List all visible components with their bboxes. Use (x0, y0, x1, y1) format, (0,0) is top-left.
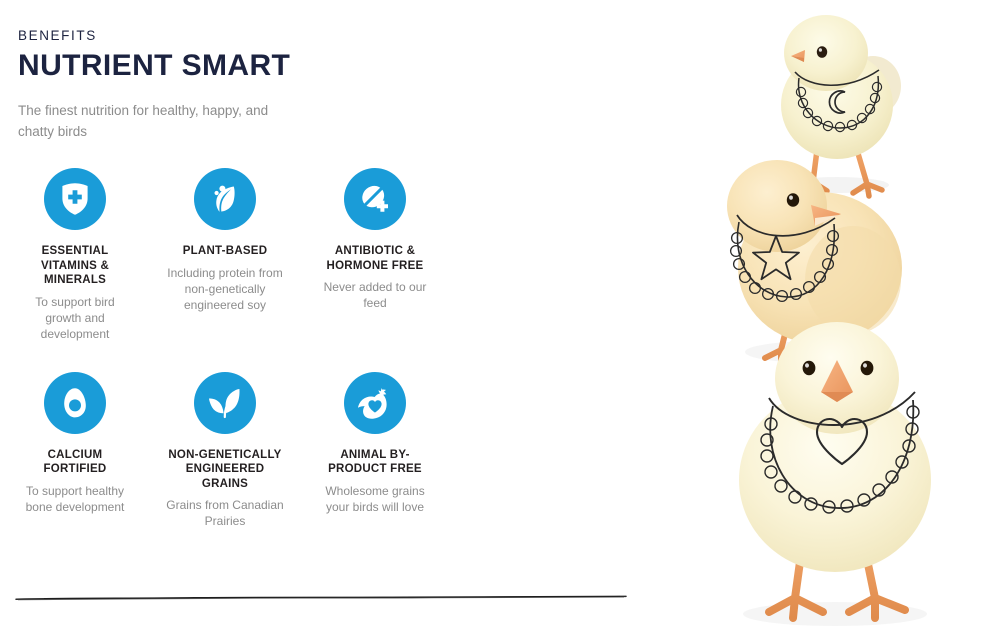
benefit-description: To support healthy bone development (16, 483, 134, 515)
benefit-title: ANIMAL BY-PRODUCT FREE (315, 448, 435, 477)
chicks-photo (677, 0, 987, 640)
benefit-title: CALCIUM FORTIFIED (15, 448, 135, 477)
benefit-item-plant-based: PLANT-BASED Including protein from non-g… (150, 168, 300, 313)
leaf-droplets-icon (194, 168, 256, 230)
benefit-item-antibiotic-hormone-free: ANTIBIOTIC & HORMONE FREE Never added to… (300, 168, 450, 311)
benefit-item-essential-vitamins: ESSENTIAL VITAMINS & MINERALS To support… (0, 168, 150, 342)
section-divider (14, 586, 628, 608)
benefit-description: To support bird growth and development (16, 294, 134, 342)
hen-heart-icon (344, 372, 406, 434)
egg-yolk-icon (44, 372, 106, 434)
benefit-title: NON-GENETICALLY ENGINEERED GRAINS (165, 448, 285, 492)
shield-cross-icon (44, 168, 106, 230)
sprout-leaves-icon (194, 372, 256, 434)
chick-bottom (739, 322, 931, 626)
benefit-description: Wholesome grains your birds will love (316, 483, 434, 515)
benefit-title: ESSENTIAL VITAMINS & MINERALS (15, 244, 135, 288)
benefit-item-calcium-fortified: CALCIUM FORTIFIED To support healthy bon… (0, 372, 150, 515)
benefit-title: ANTIBIOTIC & HORMONE FREE (315, 244, 435, 273)
page-subtitle: The finest nutrition for healthy, happy,… (18, 100, 280, 142)
benefit-title: PLANT-BASED (183, 244, 268, 259)
benefit-description: Including protein from non-genetically e… (166, 265, 284, 313)
eyebrow-label: BENEFITS (18, 28, 438, 44)
benefits-row-1: ESSENTIAL VITAMINS & MINERALS To support… (0, 168, 660, 342)
benefit-description: Grains from Canadian Prairies (166, 497, 284, 529)
no-antibiotic-pill-icon (344, 168, 406, 230)
benefits-page: BENEFITS NUTRIENT SMART The finest nutri… (0, 0, 987, 640)
benefits-row-2: CALCIUM FORTIFIED To support healthy bon… (0, 372, 660, 530)
page-title: NUTRIENT SMART (18, 50, 438, 82)
benefit-item-animal-byproduct-free: ANIMAL BY-PRODUCT FREE Wholesome grains … (300, 372, 450, 515)
benefit-item-non-gmo-grains: NON-GENETICALLY ENGINEERED GRAINS Grains… (150, 372, 300, 530)
benefit-description: Never added to our feed (316, 279, 434, 311)
page-header: BENEFITS NUTRIENT SMART (18, 28, 438, 82)
benefits-grid: ESSENTIAL VITAMINS & MINERALS To support… (0, 168, 660, 529)
